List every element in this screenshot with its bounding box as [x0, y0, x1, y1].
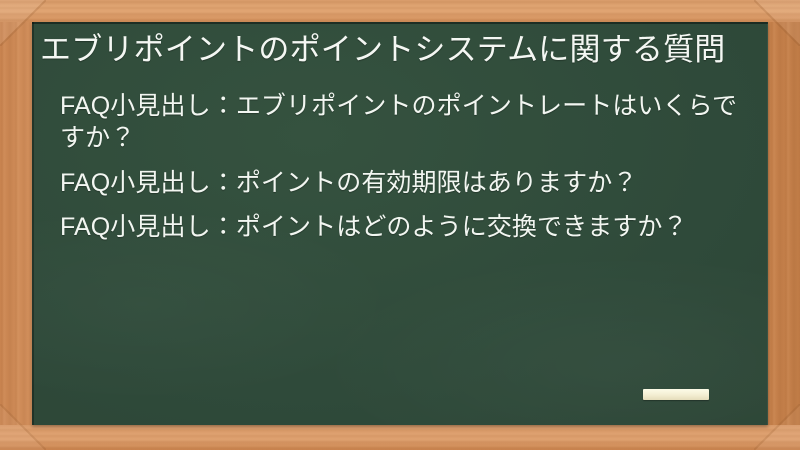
- list-item: FAQ小見出し：ポイントはどのように交換できますか？: [60, 211, 742, 244]
- frame-rail-bottom: [0, 425, 800, 450]
- chalkboard-content: エブリポイントのポイントシステムに関する質問 FAQ小見出し：エブリポイントのポ…: [32, 22, 768, 244]
- chalkboard-surface: エブリポイントのポイントシステムに関する質問 FAQ小見出し：エブリポイントのポ…: [32, 22, 768, 425]
- list-item: FAQ小見出し：エブリポイントのポイントレートはいくらですか？: [60, 90, 742, 155]
- list-item: FAQ小見出し：ポイントの有効期限はありますか？: [60, 167, 742, 200]
- frame-rail-top: [0, 0, 800, 22]
- chalk-stick-icon: [643, 389, 709, 400]
- page-title: エブリポイントのポイントシステムに関する質問: [36, 30, 746, 70]
- faq-question-list: FAQ小見出し：エブリポイントのポイントレートはいくらですか？ FAQ小見出し：…: [36, 90, 746, 244]
- blackboard-wooden-frame: エブリポイントのポイントシステムに関する質問 FAQ小見出し：エブリポイントのポ…: [0, 0, 800, 450]
